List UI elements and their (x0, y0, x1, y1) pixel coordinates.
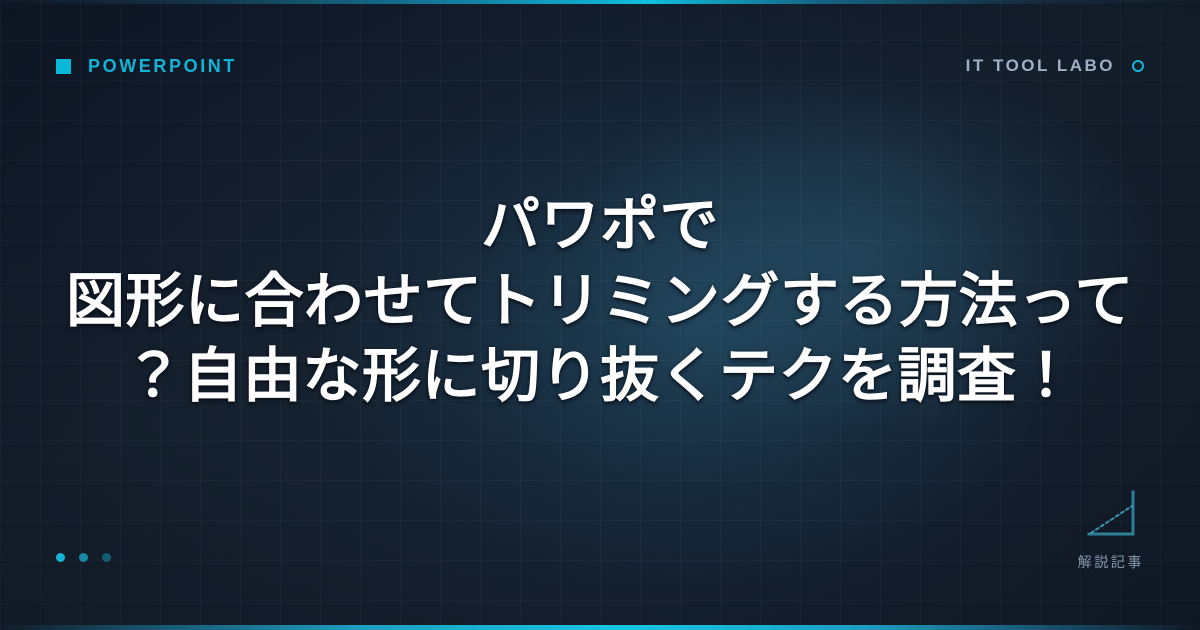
dot-indicator (56, 553, 65, 562)
dot-indicator (79, 553, 88, 562)
site-label: IT TOOL LABO (966, 56, 1115, 76)
site-brand[interactable]: IT TOOL LABO (966, 56, 1144, 76)
category-label: POWERPOINT (88, 56, 237, 77)
crop-angle-icon (1083, 488, 1139, 540)
page-title: パワポで 図形に合わせてトリミングする方法って ？自由な形に切り抜くテクを調査！ (0, 188, 1200, 415)
progress-dots (56, 553, 111, 562)
header: POWERPOINT IT TOOL LABO (0, 0, 1200, 132)
footer-caption: 解説記事 (1078, 552, 1144, 572)
title-line-1: パワポで (46, 188, 1154, 264)
title-line-2: 図形に合わせてトリミングする方法って (46, 264, 1154, 340)
title-line-3: ？自由な形に切り抜くテクを調査！ (46, 339, 1154, 415)
category-badge[interactable]: POWERPOINT (56, 56, 237, 77)
circle-outline-icon (1132, 60, 1144, 72)
og-card: POWERPOINT IT TOOL LABO パワポで 図形に合わせてトリミン… (0, 0, 1200, 630)
footer-mark: 解説記事 (1078, 488, 1144, 572)
square-icon (56, 59, 71, 74)
dot-indicator (102, 553, 111, 562)
